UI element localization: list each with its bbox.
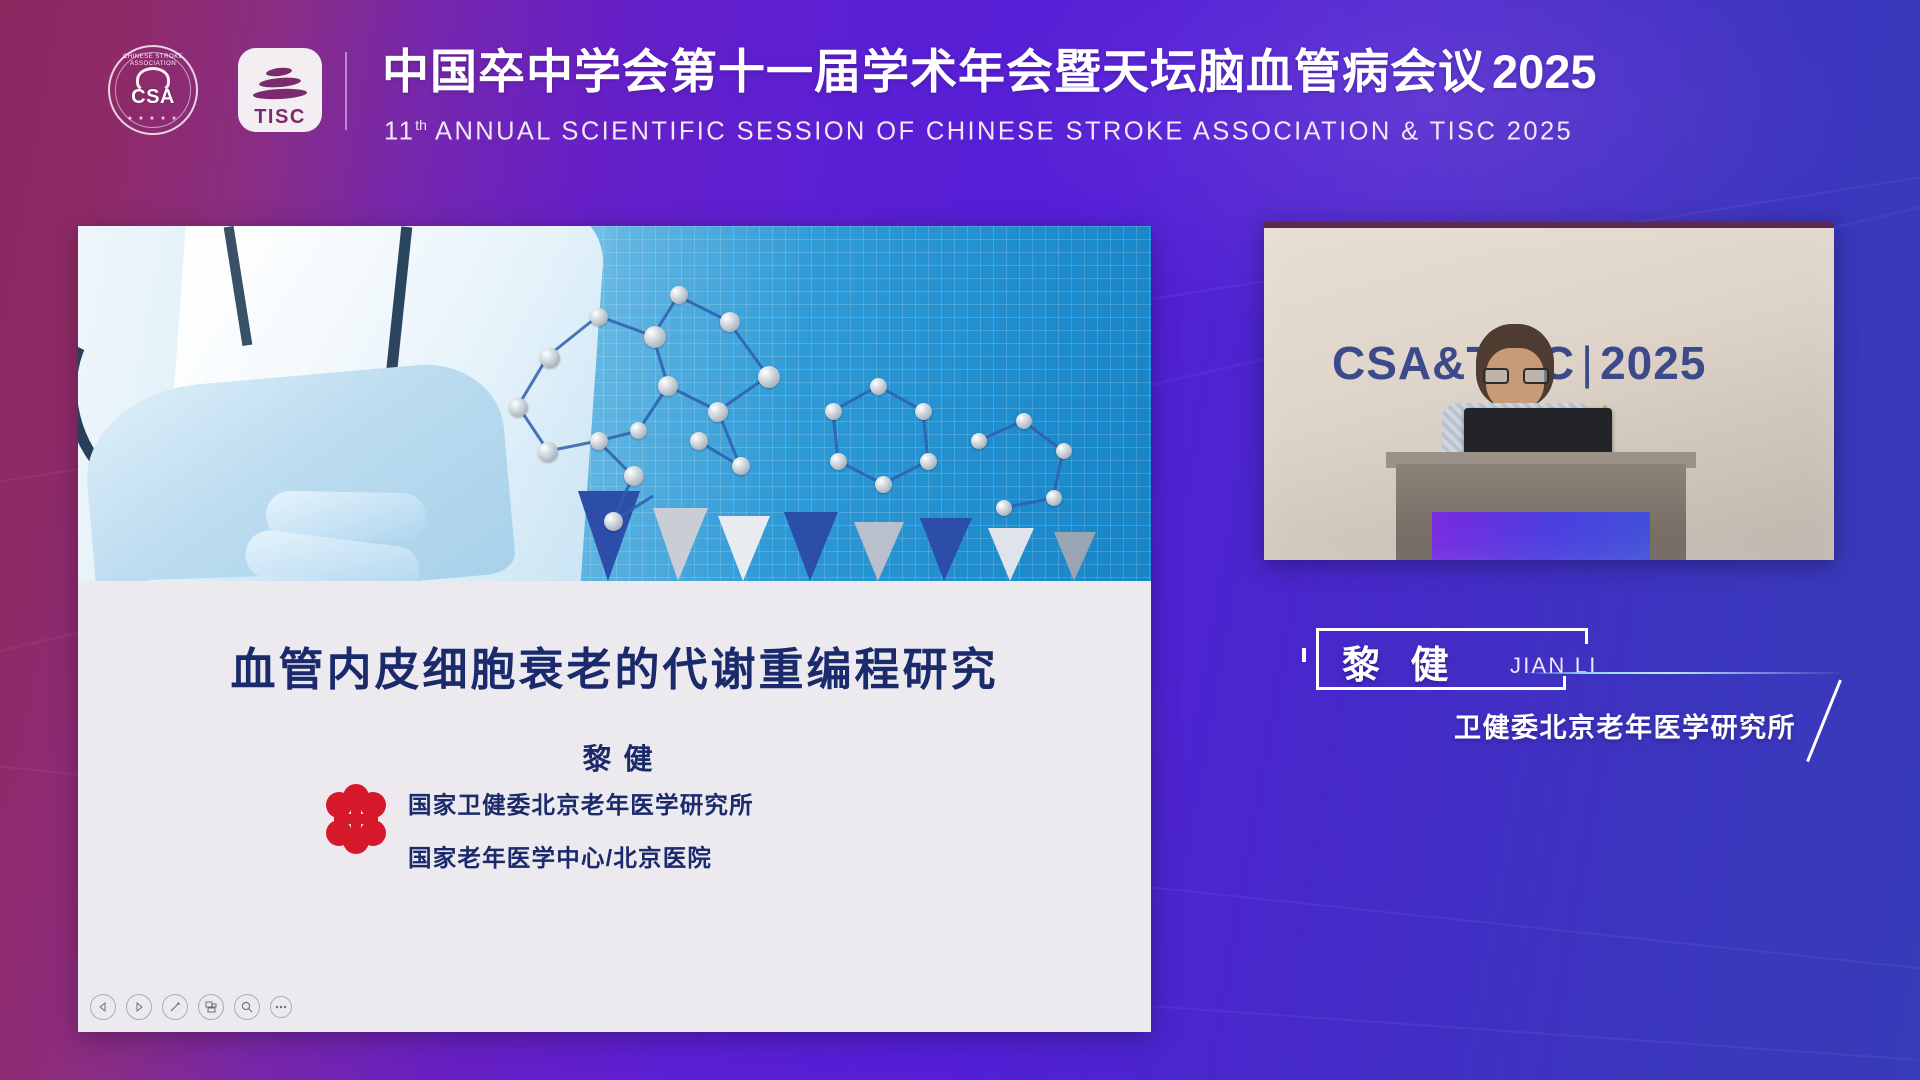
slide-header-photo: [78, 226, 1151, 581]
csa-logo: CHINESE STROKE ASSOCIATION CSA ★ ★ ★ ★ ★: [108, 45, 198, 135]
video-podium-screen: [1432, 512, 1650, 560]
speaker-name-cn: 黎 健: [1342, 634, 1459, 689]
speaker-name-en: JIAN LI: [1510, 653, 1598, 679]
slide-affiliations: 国家卫健委北京老年医学研究所 国家老年医学中心/北京医院: [408, 794, 928, 870]
tisc-logo: TISC: [238, 48, 322, 132]
slide-affiliation-2: 国家老年医学中心/北京医院: [408, 847, 928, 871]
triangle-right-icon: [133, 1001, 145, 1013]
header-subtitle-number: 11: [384, 118, 415, 146]
header-title-cn: 中国卒中学会第十一届学术年会暨天坛脑血管病会议: [382, 45, 1486, 98]
slide-affiliation-1: 国家卫健委北京老年医学研究所: [408, 794, 928, 818]
video-backdrop-logo-right: 2025: [1600, 337, 1706, 389]
csa-logo-swirl-icon: [136, 67, 170, 93]
header-subtitle: 11th ANNUAL SCIENTIFIC SESSION OF CHINES…: [384, 117, 1573, 147]
csa-logo-arc-text: CHINESE STROKE ASSOCIATION: [110, 53, 196, 67]
slide-toolbar[interactable]: [90, 994, 292, 1020]
slide-author: 黎 健: [78, 736, 1151, 778]
pen-icon: [168, 1000, 182, 1014]
more-options-button[interactable]: [270, 996, 292, 1018]
slide-body: 血管内皮细胞衰老的代谢重编程研究 黎 健 国家卫健委北京老年医学研究所 国家老年…: [78, 581, 1151, 1032]
next-slide-button[interactable]: [126, 994, 152, 1020]
speaker-nameplate: 黎 健 JIAN LI 卫健委北京老年医学研究所: [1312, 620, 1852, 760]
nameplate-diagonal-accent: [1806, 679, 1842, 762]
nameplate-accent-dot: [1302, 648, 1306, 662]
video-backdrop-logo-separator: |: [1575, 337, 1600, 389]
header-title: 中国卒中学会第十一届学术年会暨天坛脑血管病会议2025: [382, 46, 1597, 99]
prev-slide-button[interactable]: [90, 994, 116, 1020]
header-title-year: 2025: [1486, 45, 1597, 98]
slide-title: 血管内皮细胞衰老的代谢重编程研究: [78, 633, 1151, 698]
grid-icon: [204, 1000, 218, 1014]
conference-header: CHINESE STROKE ASSOCIATION CSA ★ ★ ★ ★ ★…: [0, 0, 1920, 176]
triangle-left-icon: [97, 1001, 109, 1013]
speaker-organization: 卫健委北京老年医学研究所: [1454, 706, 1796, 745]
csa-logo-stars: ★ ★ ★ ★ ★: [110, 115, 196, 122]
header-divider: [345, 52, 347, 130]
slide-grid-button[interactable]: [198, 994, 224, 1020]
speaker-video-feed[interactable]: CSA&TISC|2025: [1264, 222, 1834, 560]
video-speaker-glasses-icon: [1483, 368, 1549, 384]
nameplate-glow-line: [1526, 672, 1846, 674]
tisc-logo-label: TISC: [254, 107, 306, 127]
header-subtitle-text: ANNUAL SCIENTIFIC SESSION OF CHINESE STR…: [427, 118, 1573, 146]
ellipsis-icon: [274, 1004, 288, 1010]
annotate-pen-button[interactable]: [162, 994, 188, 1020]
header-subtitle-ordinal: th: [415, 117, 427, 133]
hospital-logo-icon: [326, 788, 386, 850]
zoom-search-button[interactable]: [234, 994, 260, 1020]
broadcast-stage: CHINESE STROKE ASSOCIATION CSA ★ ★ ★ ★ ★…: [0, 0, 1920, 1080]
magnifier-icon: [240, 1000, 254, 1014]
presentation-slide[interactable]: 血管内皮细胞衰老的代谢重编程研究 黎 健 国家卫健委北京老年医学研究所 国家老年…: [78, 226, 1151, 1032]
tisc-logo-mark-icon: [252, 66, 308, 106]
